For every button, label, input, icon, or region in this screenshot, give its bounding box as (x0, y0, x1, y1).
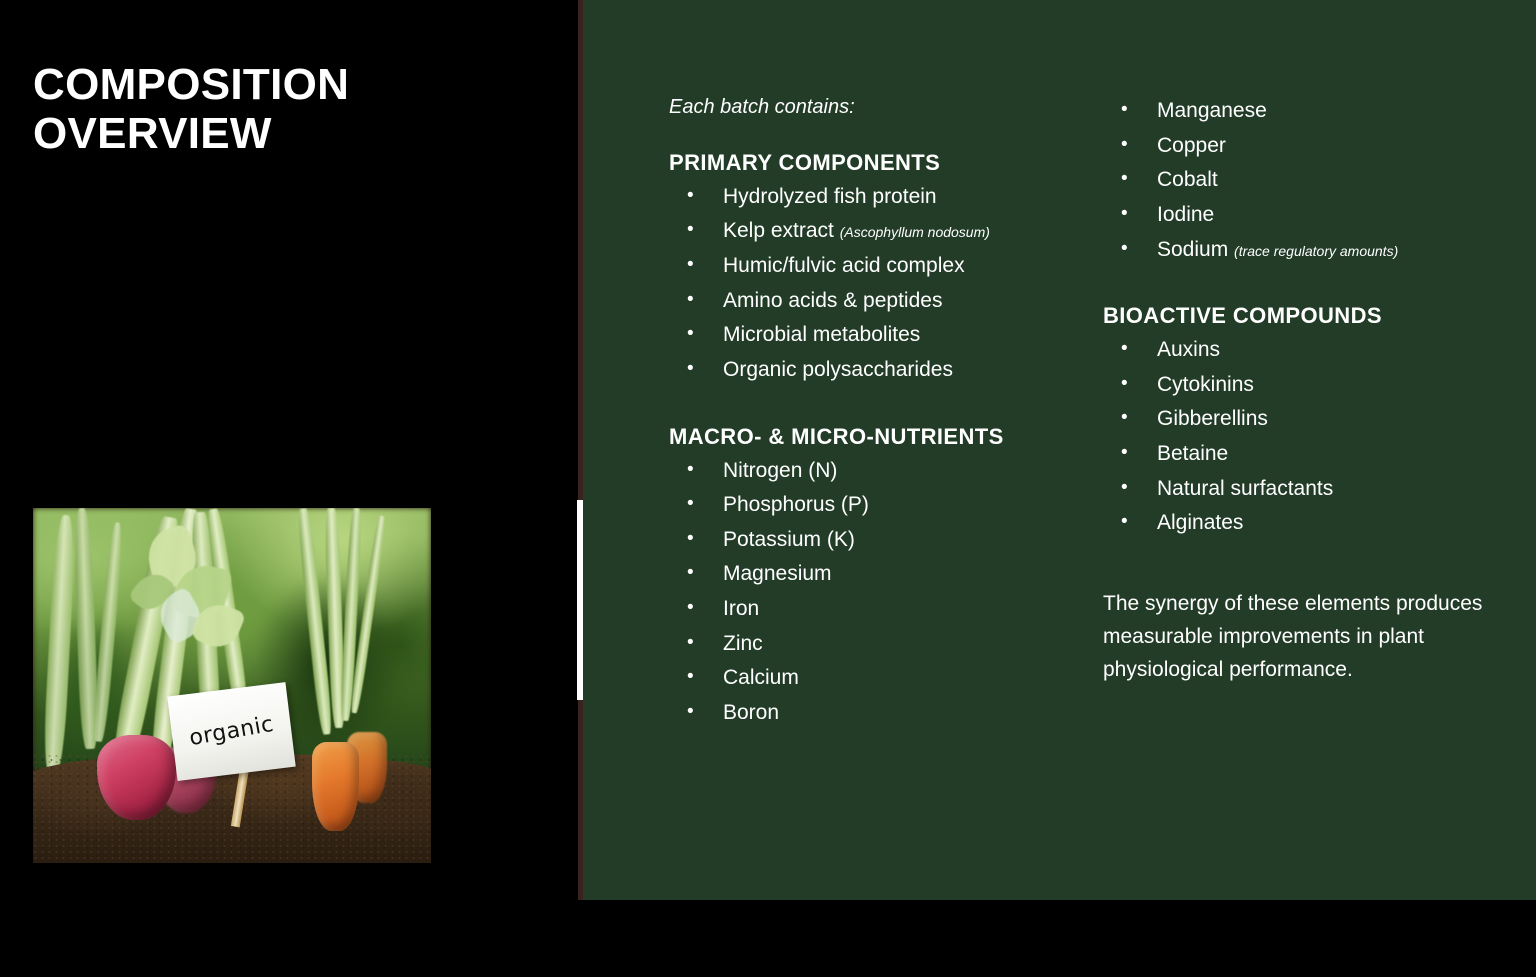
list-item-label: Gibberellins (1157, 407, 1268, 430)
list-item: Auxins (1103, 333, 1503, 368)
primary-components-list: Hydrolyzed fish protein Kelp extract (As… (669, 180, 1069, 388)
list-item: Kelp extract (Ascophyllum nodosum) (669, 214, 1069, 249)
composition-photo: organic (33, 508, 431, 863)
section-heading: PRIMARY COMPONENTS (669, 150, 1069, 177)
list-item-label: Zinc (723, 632, 763, 655)
list-item: Iodine (1103, 198, 1503, 233)
list-item: Manganese (1103, 94, 1503, 129)
nutrients-list: Nitrogen (N) Phosphorus (P) Potassium (K… (669, 454, 1069, 731)
bioactive-compounds-list: Auxins Cytokinins Gibberellins Betaine N (1103, 333, 1503, 541)
list-item-note: (trace regulatory amounts) (1234, 243, 1398, 259)
list-item-label: Amino acids & peptides (723, 289, 942, 312)
content-panel: Each batch contains: PRIMARY COMPONENTS … (583, 0, 1536, 900)
list-item: Microbial metabolites (669, 318, 1069, 353)
list-item: Alginates (1103, 506, 1503, 541)
list-item-label: Hydrolyzed fish protein (723, 185, 937, 208)
content-columns: Each batch contains: PRIMARY COMPONENTS … (669, 94, 1509, 731)
list-item: Potassium (K) (669, 523, 1069, 558)
list-item-label: Potassium (K) (723, 528, 855, 551)
list-item-label: Boron (723, 701, 779, 724)
slide: COMPOSITION OVERVIEW (0, 0, 1536, 977)
list-item: Copper (1103, 129, 1503, 164)
section-bioactive-compounds: BIOACTIVE COMPOUNDS Auxins Cytokinins Gi… (1103, 303, 1503, 541)
list-item-label: Copper (1157, 134, 1226, 157)
list-item-label: Iodine (1157, 203, 1214, 226)
list-item: Nitrogen (N) (669, 454, 1069, 489)
list-item-label: Auxins (1157, 338, 1220, 361)
list-item-label: Nitrogen (N) (723, 459, 837, 482)
list-item: Betaine (1103, 437, 1503, 472)
list-item-label: Humic/fulvic acid complex (723, 254, 965, 277)
list-item: Humic/fulvic acid complex (669, 249, 1069, 284)
list-item: Gibberellins (1103, 402, 1503, 437)
summary-paragraph: The synergy of these elements produces m… (1103, 587, 1503, 687)
list-item: Natural surfactants (1103, 472, 1503, 507)
list-item-label: Alginates (1157, 511, 1243, 534)
list-item: Hydrolyzed fish protein (669, 180, 1069, 215)
list-item: Calcium (669, 661, 1069, 696)
content-column-left: Each batch contains: PRIMARY COMPONENTS … (669, 94, 1069, 731)
intro-text: Each batch contains: (669, 94, 1069, 120)
list-item: Magnesium (669, 557, 1069, 592)
list-item: Zinc (669, 627, 1069, 662)
list-item: Iron (669, 592, 1069, 627)
page-title: COMPOSITION OVERVIEW (33, 60, 553, 159)
section-primary-components: PRIMARY COMPONENTS Hydrolyzed fish prote… (669, 150, 1069, 388)
list-item-label: Organic polysaccharides (723, 358, 953, 381)
list-item-label: Magnesium (723, 562, 832, 585)
list-item: Cytokinins (1103, 368, 1503, 403)
photo-sign-label: organic (188, 712, 276, 751)
left-panel: COMPOSITION OVERVIEW (0, 0, 578, 900)
list-item: Boron (669, 696, 1069, 731)
list-item: Organic polysaccharides (669, 353, 1069, 388)
content-column-right: Manganese Copper Cobalt Iodine Sodium (t… (1103, 94, 1503, 731)
section-heading: MACRO- & MICRO-NUTRIENTS (669, 424, 1069, 451)
list-item-label: Betaine (1157, 442, 1228, 465)
list-item-label: Sodium (1157, 238, 1228, 261)
list-item: Cobalt (1103, 163, 1503, 198)
section-spacer (1103, 267, 1503, 303)
section-spacer (669, 388, 1069, 424)
nutrients-continued-list: Manganese Copper Cobalt Iodine Sodium (t… (1103, 94, 1503, 267)
photo-canvas: organic (33, 508, 431, 863)
list-item-label: Cobalt (1157, 168, 1218, 191)
list-item-label: Microbial metabolites (723, 323, 920, 346)
section-heading: BIOACTIVE COMPOUNDS (1103, 303, 1503, 330)
list-item-label: Iron (723, 597, 759, 620)
list-item-label: Manganese (1157, 99, 1267, 122)
photo-carrot-front (312, 742, 360, 831)
list-item-label: Phosphorus (P) (723, 493, 869, 516)
list-item: Phosphorus (P) (669, 488, 1069, 523)
list-item: Sodium (trace regulatory amounts) (1103, 233, 1503, 268)
list-item: Amino acids & peptides (669, 284, 1069, 319)
list-item-note: (Ascophyllum nodosum) (840, 224, 990, 240)
section-macro-micro-nutrients: MACRO- & MICRO-NUTRIENTS Nitrogen (N) Ph… (669, 424, 1069, 731)
list-item-label: Calcium (723, 666, 799, 689)
list-item-label: Natural surfactants (1157, 477, 1333, 500)
photo-organic-sign: organic (168, 682, 297, 781)
list-item-label: Cytokinins (1157, 373, 1254, 396)
list-item-label: Kelp extract (723, 219, 834, 242)
